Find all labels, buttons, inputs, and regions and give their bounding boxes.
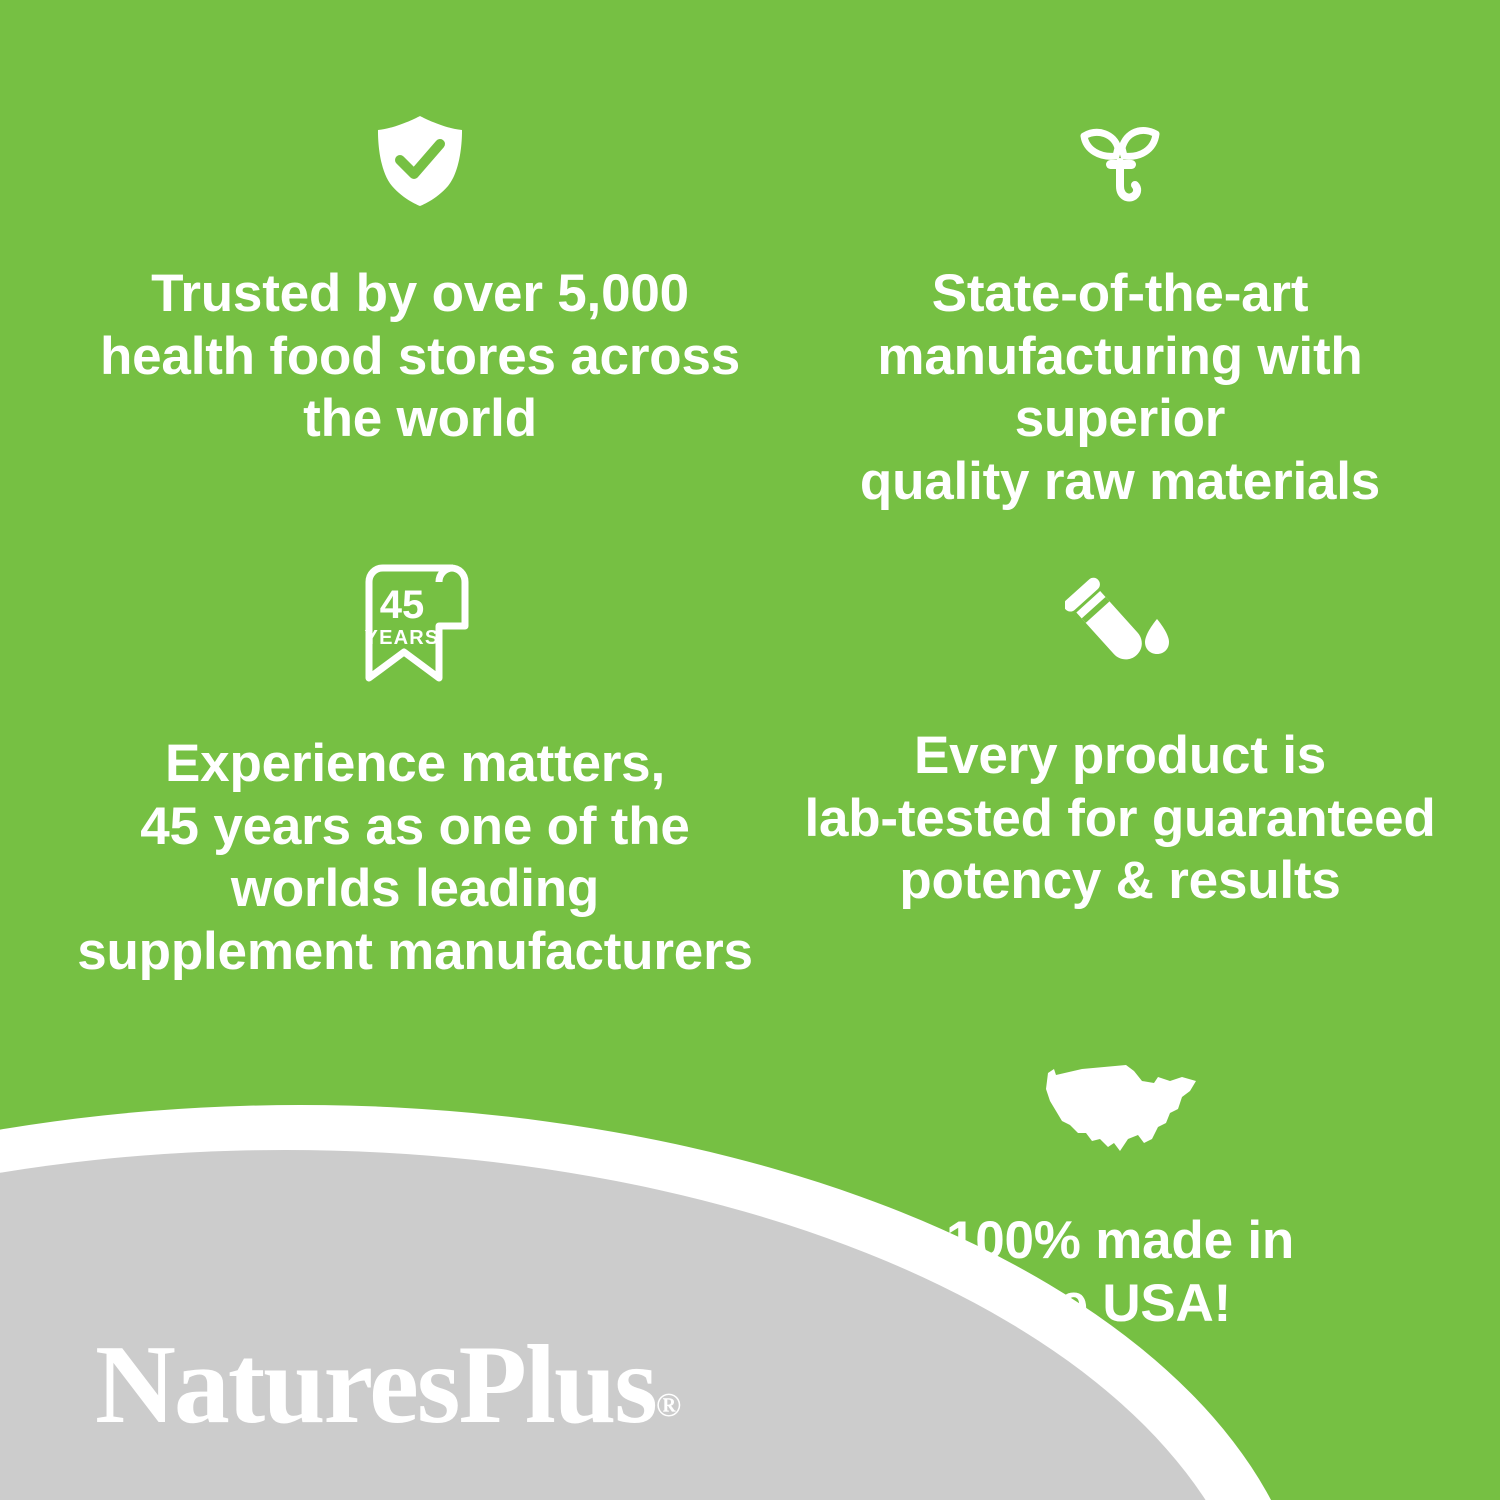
test-tube-drop-icon	[770, 575, 1470, 680]
feature-state-of-the-art-manufacturing: State-of-the-art manufacturing with supe…	[770, 110, 1470, 513]
feature-made-in-usa: 100% made in the USA!	[790, 1055, 1450, 1335]
badge-label: YEARS	[365, 627, 440, 649]
feature-trusted-stores: Trusted by over 5,000 health food stores…	[60, 110, 780, 451]
logo-name: NaturesPlus	[95, 1323, 656, 1447]
feature-experience-45-years: 45 YEARS Experience matters, 45 years as…	[45, 560, 785, 983]
badge-number: 45	[380, 583, 425, 627]
usa-map-icon	[790, 1055, 1450, 1168]
shield-check-icon	[60, 110, 780, 215]
feature-caption: State-of-the-art manufacturing with supe…	[770, 263, 1470, 513]
registered-trademark-icon: ®	[656, 1387, 681, 1424]
feature-lab-tested: Every product is lab-tested for guarante…	[770, 575, 1470, 913]
naturesplus-logo: NaturesPlus®	[95, 1325, 655, 1445]
promo-poster: Trusted by over 5,000 health food stores…	[0, 0, 1500, 1500]
sprout-icon	[770, 110, 1470, 215]
feature-caption: Every product is lab-tested for guarante…	[770, 725, 1470, 913]
anniversary-ribbon-icon: 45 YEARS	[45, 560, 785, 691]
feature-caption: Experience matters, 45 years as one of t…	[45, 733, 785, 983]
logo-wordmark-text: NaturesPlus®	[95, 1325, 655, 1466]
feature-caption: Trusted by over 5,000 health food stores…	[60, 263, 780, 451]
feature-caption: 100% made in the USA!	[790, 1210, 1450, 1335]
